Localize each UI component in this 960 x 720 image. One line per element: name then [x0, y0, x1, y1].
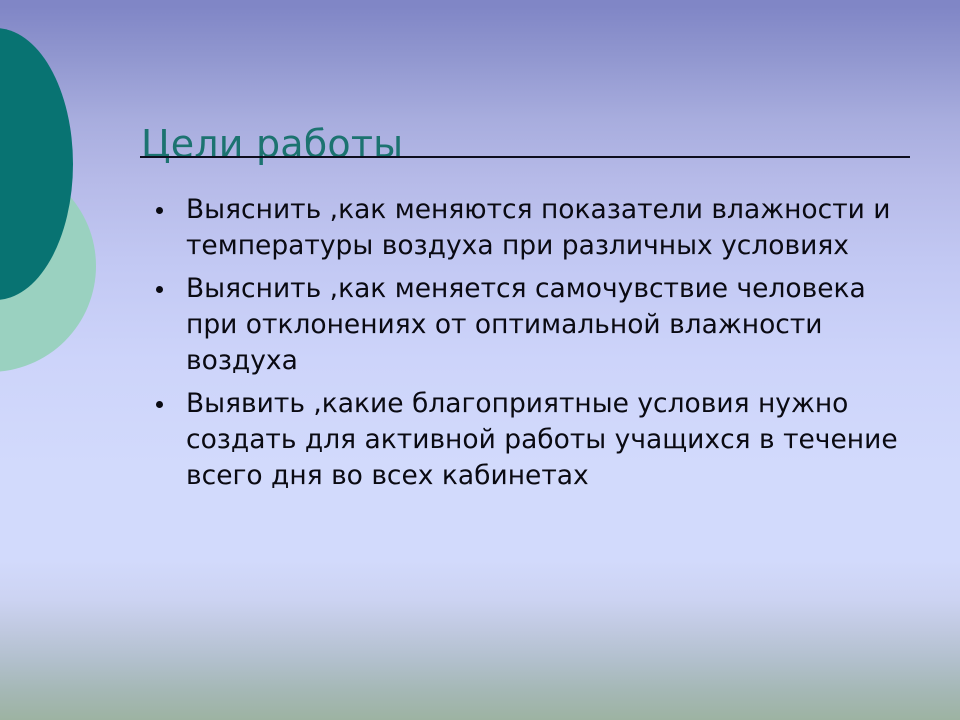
- decorative-circle-light-icon: [0, 160, 96, 372]
- slide-title: Цели работы: [141, 121, 911, 167]
- list-item-text: Выяснить ,как меняется самочувствие чело…: [186, 271, 911, 379]
- bullet-dot-icon: [156, 207, 163, 214]
- list-item-text: Выяснить ,как меняются показатели влажно…: [186, 192, 911, 264]
- title-divider: [140, 156, 910, 158]
- bullet-dot-icon: [156, 401, 163, 408]
- presentation-slide: Цели работы Выяснить ,как меняются показ…: [0, 0, 960, 720]
- list-item: Выяснить ,как меняются показатели влажно…: [141, 192, 911, 264]
- list-item: Выявить ,какие благоприятные условия нуж…: [141, 386, 911, 494]
- list-item: Выяснить ,как меняется самочувствие чело…: [141, 271, 911, 379]
- slide-body-bullet-list: Выяснить ,как меняются показатели влажно…: [141, 192, 911, 494]
- bullet-dot-icon: [156, 286, 163, 293]
- decorative-circle-dark-icon: [0, 28, 73, 300]
- list-item-text: Выявить ,какие благоприятные условия нуж…: [186, 386, 911, 494]
